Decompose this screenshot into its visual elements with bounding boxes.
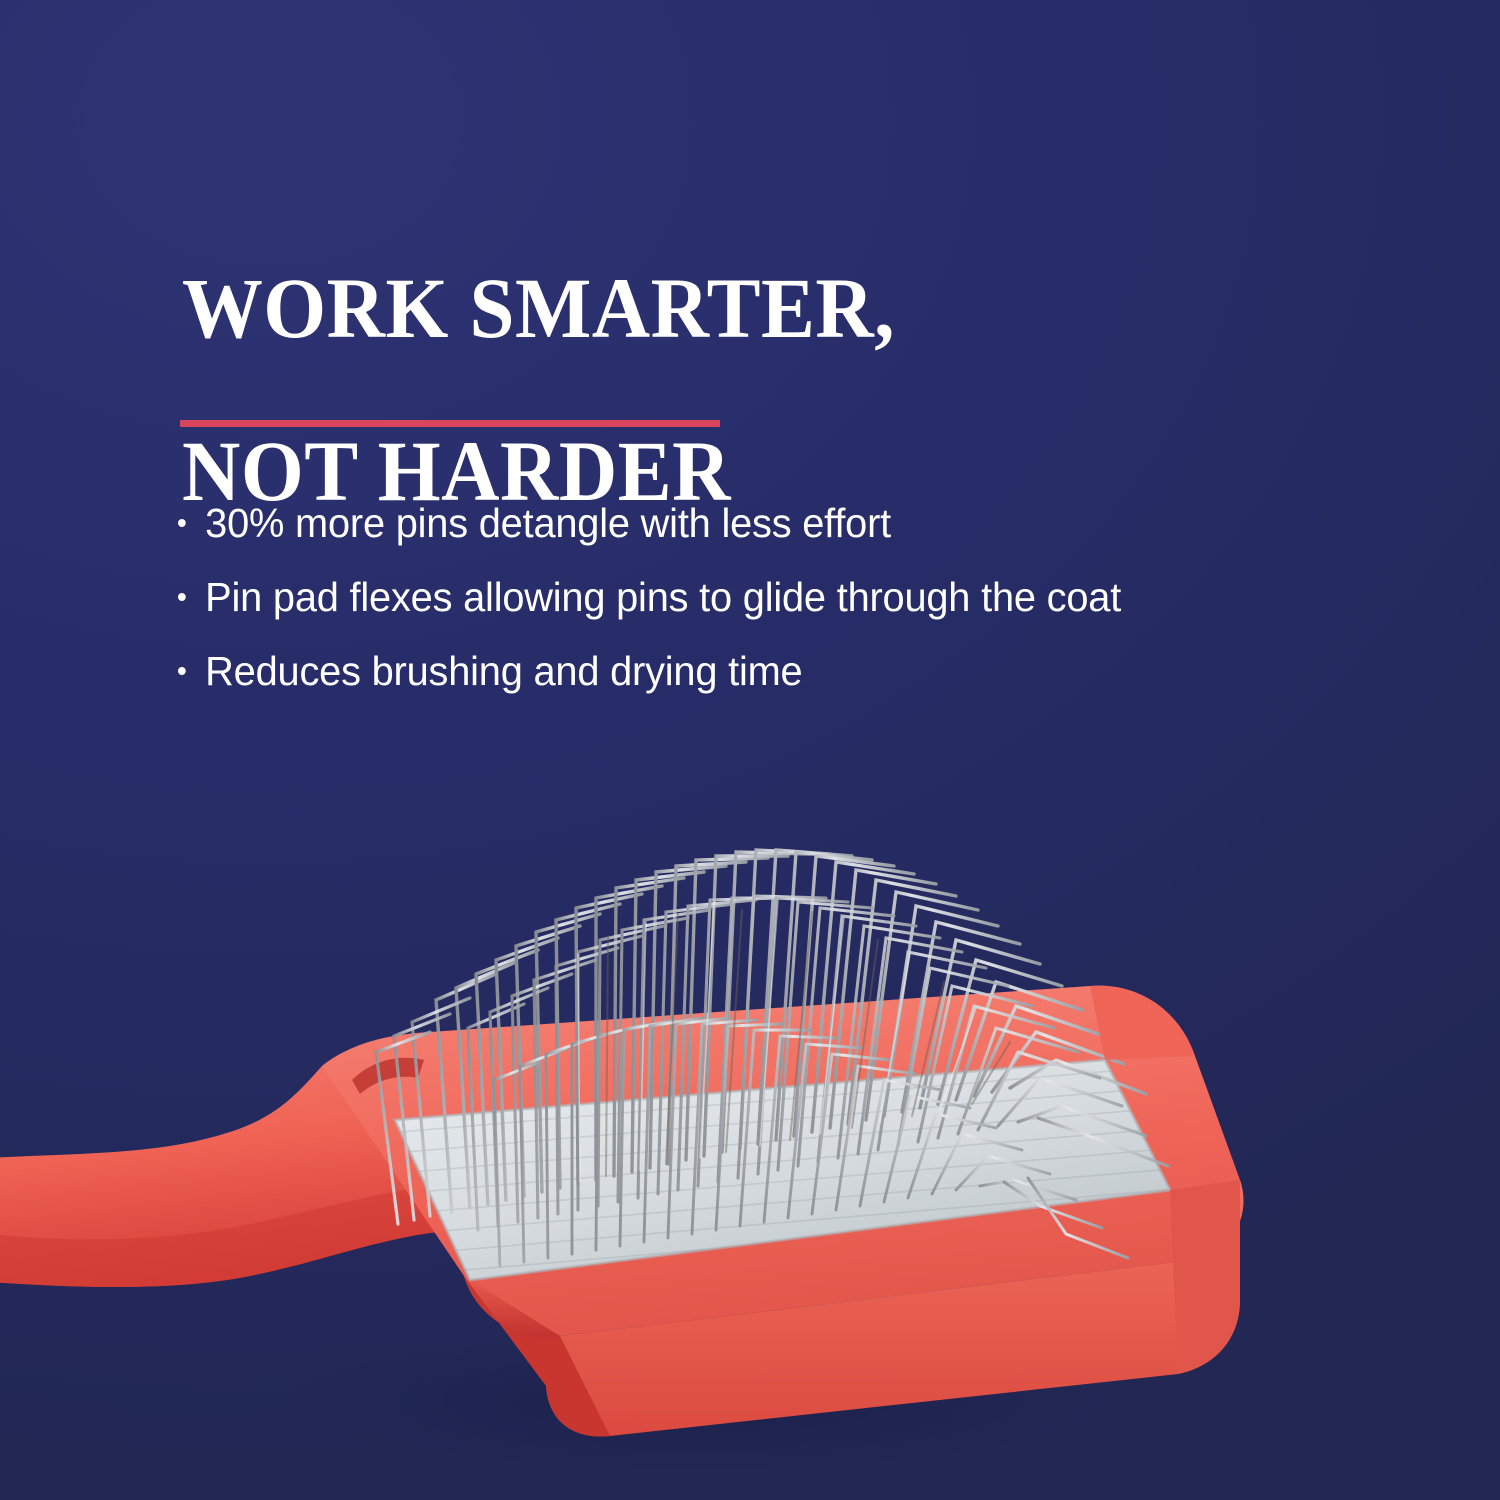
head-lip-right-lower — [1170, 1180, 1240, 1374]
list-item: Pin pad flexes allowing pins to glide th… — [178, 572, 1158, 622]
red-divider-rule — [180, 420, 720, 427]
feature-bullet-list: 30% more pins detangle with less effort … — [178, 498, 1188, 720]
headline-line-1: WORK SMARTER, — [182, 268, 1122, 350]
marketing-image: WORK SMARTER, NOT HARDER 30% more pins d… — [0, 0, 1500, 1500]
bullet-dot-icon — [178, 667, 186, 675]
list-item: Reduces brushing and drying time — [178, 646, 1158, 696]
product-image-slicker-brush — [0, 760, 1500, 1500]
bullet-text: Reduces brushing and drying time — [205, 648, 802, 694]
list-item: 30% more pins detangle with less effort — [178, 498, 1158, 548]
bullet-text: 30% more pins detangle with less effort — [205, 500, 891, 546]
brush-illustration — [0, 760, 1500, 1500]
bullet-dot-icon — [178, 593, 186, 601]
head-lip-right — [1090, 986, 1195, 1060]
bullet-text: Pin pad flexes allowing pins to glide th… — [205, 574, 1121, 620]
bullet-dot-icon — [178, 519, 186, 527]
